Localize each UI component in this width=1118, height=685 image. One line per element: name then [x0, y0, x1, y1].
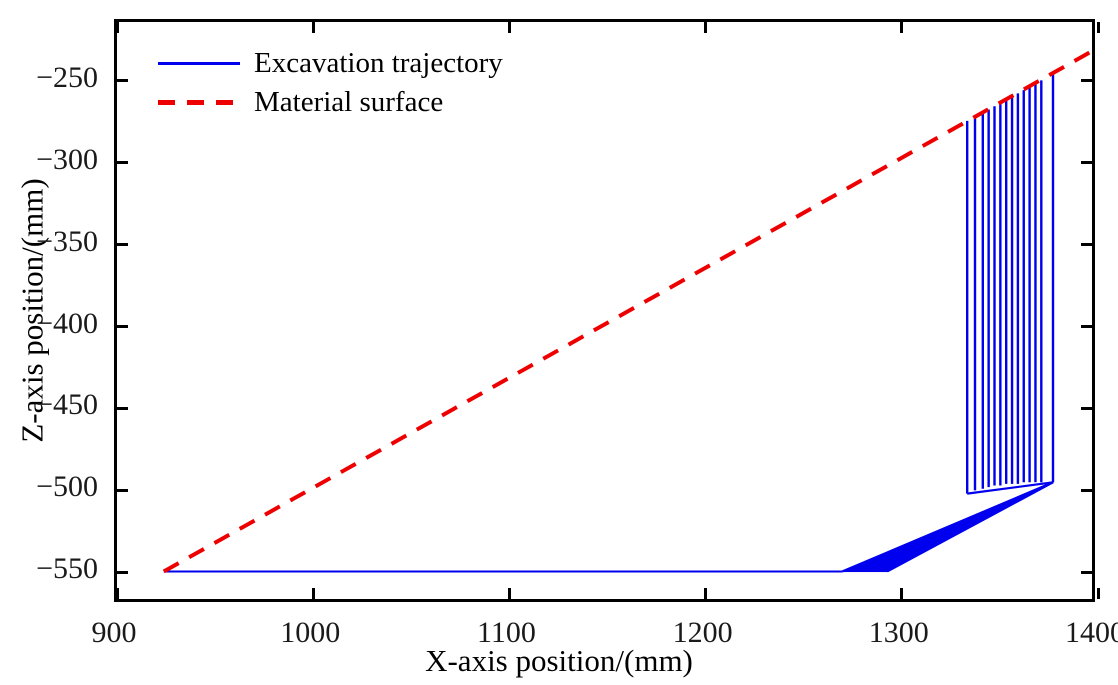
trajectory-ramp-lower-edge [842, 482, 1053, 571]
y-tick-label-300: −300 [0, 145, 98, 175]
y-tick-400 [117, 325, 128, 328]
legend-item-excavation-trajectory[interactable]: Excavation trajectory [158, 48, 503, 78]
y-tick-550 [117, 571, 128, 574]
legend-label-material-surface: Material surface [254, 88, 443, 117]
y-tick-label-550: −550 [0, 554, 98, 584]
y-tick-label-500: −500 [0, 472, 98, 502]
dashed-line-swatch-icon [158, 93, 240, 111]
y-tick-450 [117, 407, 128, 410]
y-tick-500 [117, 489, 128, 492]
y-tick-right-300 [1081, 161, 1092, 164]
x-tick-top-1200 [704, 22, 707, 33]
x-tick-1300 [900, 588, 903, 599]
x-axis-title: X-axis position/(mm) [0, 645, 1118, 676]
x-tick-1400 [1097, 588, 1100, 599]
chart-legend: Excavation trajectory Material surface [158, 48, 503, 117]
x-tick-1200 [704, 588, 707, 599]
y-tick-label-400: −400 [0, 309, 98, 339]
y-tick-right-350 [1081, 243, 1092, 246]
y-tick-label-350: −350 [0, 227, 98, 257]
solid-line-swatch-icon [158, 54, 240, 72]
x-tick-label-1400: 1400 [1065, 618, 1118, 648]
y-tick-right-500 [1081, 489, 1092, 492]
legend-item-material-surface[interactable]: Material surface [158, 87, 503, 117]
x-tick-top-1400 [1097, 22, 1100, 33]
x-tick-label-1000: 1000 [280, 618, 340, 648]
x-tick-top-1300 [900, 22, 903, 33]
x-tick-1100 [508, 588, 511, 599]
y-tick-300 [117, 161, 128, 164]
y-tick-label-250: −250 [0, 63, 98, 93]
y-tick-right-250 [1081, 79, 1092, 82]
material-surface-line [164, 51, 1092, 571]
y-tick-250 [117, 79, 128, 82]
x-tick-900 [116, 588, 119, 599]
y-tick-right-450 [1081, 407, 1092, 410]
trajectory-ramp-upper-edge [887, 482, 1053, 571]
x-tick-label-900: 900 [92, 618, 137, 648]
x-tick-top-900 [116, 22, 119, 33]
y-tick-right-400 [1081, 325, 1092, 328]
y-tick-350 [117, 243, 128, 246]
chart-figure: Z-axis position/(mm) 9001000110012001300… [0, 0, 1118, 685]
y-tick-right-550 [1081, 571, 1092, 574]
y-tick-label-450: −450 [0, 390, 98, 420]
trajectory-vertical-strokes [967, 74, 1053, 494]
x-tick-label-1300: 1300 [869, 618, 929, 648]
x-tick-top-1000 [312, 22, 315, 33]
legend-label-excavation-trajectory: Excavation trajectory [254, 49, 503, 78]
x-tick-1000 [312, 588, 315, 599]
x-tick-top-1100 [508, 22, 511, 33]
